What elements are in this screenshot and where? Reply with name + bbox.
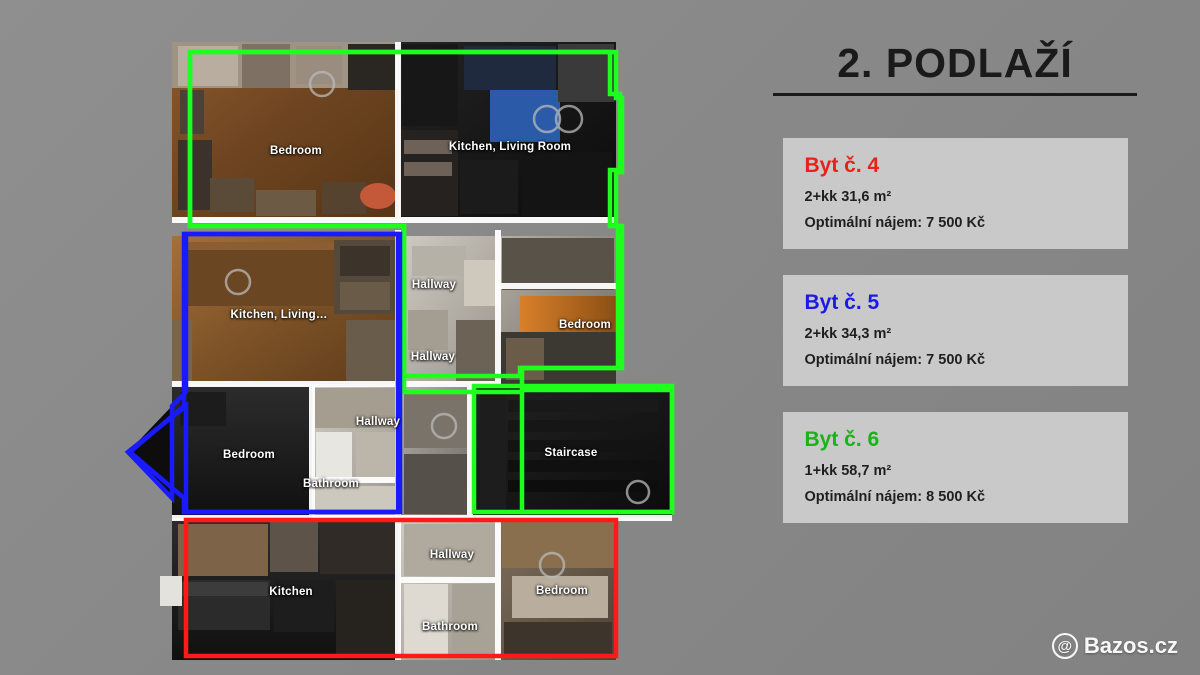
unit-name-6: Byt č. 6 [805,428,1106,452]
floorplan-svg [60,20,680,660]
page-title: 2. PODLAŽÍ [773,40,1137,96]
unit-layout-6: 1+kk 58,7 m² [805,463,1106,479]
unit-layout-4: 2+kk 31,6 m² [805,189,1106,205]
unit-card-4: Byt č. 4 2+kk 31,6 m² Optimální nájem: 7… [783,138,1128,249]
floorplan-diagram: Bedroom Kitchen, Living Room Kitchen, Li… [60,20,680,660]
unit-name-5: Byt č. 5 [805,291,1106,315]
unit-name-4: Byt č. 4 [805,154,1106,178]
unit-rent-6: Optimální nájem: 8 500 Kč [805,489,1106,505]
at-icon: @ [1052,633,1078,659]
unit-rent-5: Optimální nájem: 7 500 Kč [805,352,1106,368]
watermark-text: Bazos.cz [1084,633,1178,659]
watermark: @ Bazos.cz [1052,633,1178,659]
unit-card-6: Byt č. 6 1+kk 58,7 m² Optimální nájem: 8… [783,412,1128,523]
unit-info-panel: 2. PODLAŽÍ Byt č. 4 2+kk 31,6 m² Optimál… [745,40,1165,650]
unit-layout-5: 2+kk 34,3 m² [805,326,1106,342]
unit-card-5: Byt č. 5 2+kk 34,3 m² Optimální nájem: 7… [783,275,1128,386]
unit-rent-4: Optimální nájem: 7 500 Kč [805,215,1106,231]
